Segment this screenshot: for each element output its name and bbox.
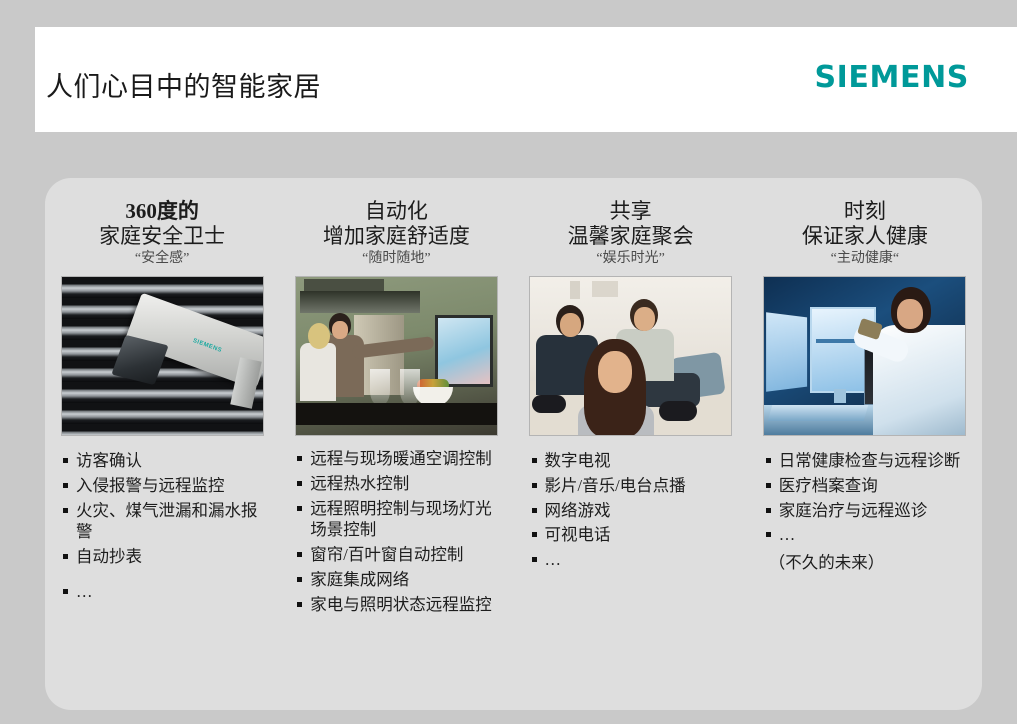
column-entertainment: 共享 温馨家庭聚会 “娱乐时光” (514, 178, 748, 710)
boy-face-shape (634, 307, 655, 331)
list-item: … (532, 549, 736, 571)
list-item: … (63, 581, 267, 603)
heading-quote: “主动健康“ (756, 251, 974, 268)
family-gaming-photo (529, 276, 732, 436)
list-item-label: … (76, 582, 93, 601)
list-item: … (766, 524, 970, 546)
keyboard-shape (768, 405, 869, 421)
telemedicine-photo (763, 276, 966, 436)
list-item-label: 远程与现场暖通空调控制 (310, 449, 492, 468)
list-item-label: 远程热水控制 (310, 474, 409, 493)
list-item: 医疗档案查询 (766, 475, 970, 497)
list-item: 远程与现场暖通空调控制 (297, 448, 501, 470)
list-item-label: … (779, 525, 796, 544)
heading-line-1: 自动化 (287, 199, 505, 224)
camera-lens-shape (111, 335, 168, 385)
game-controller-shape (659, 401, 697, 421)
list-item: 远程照明控制与现场灯光场景控制 (297, 498, 501, 542)
list-item-label: 家庭治疗与远程巡诊 (779, 501, 928, 520)
list-item-label: 远程照明控制与现场灯光场景控制 (310, 499, 492, 540)
slide-canvas: 人们心目中的智能家居 SIEMENS 360度的 家庭安全卫士 “安全感” SI… (0, 0, 1017, 724)
wall-decor-shape (592, 281, 618, 297)
bullet-square-icon (297, 456, 302, 461)
column-automation: 自动化 增加家庭舒适度 “随时随地” (279, 178, 513, 710)
bullet-square-icon (766, 532, 771, 537)
heading-line-2: 温馨家庭聚会 (522, 224, 740, 249)
list-item-label: 医疗档案查询 (779, 476, 878, 495)
woman-body-shape (300, 343, 336, 401)
doctor-face-shape (897, 299, 923, 329)
columns-container: 360度的 家庭安全卫士 “安全感” SIEMENS 访客确认 入侵报警与远程监… (45, 178, 982, 710)
list-item: 数字电视 (532, 450, 736, 472)
bullet-square-icon (297, 481, 302, 486)
heading-line-2: 家庭安全卫士 (53, 224, 271, 249)
list-item-label: 访客确认 (76, 451, 142, 470)
bullet-square-icon (63, 458, 68, 463)
content-panel: 360度的 家庭安全卫士 “安全感” SIEMENS 访客确认 入侵报警与远程监… (45, 178, 982, 710)
list-item: 可视电话 (532, 524, 736, 546)
bullet-square-icon (297, 602, 302, 607)
heading-line-2: 增加家庭舒适度 (287, 224, 505, 249)
list-item: 家庭治疗与远程巡诊 (766, 500, 970, 522)
list-item: 影片/音乐/电台点播 (532, 475, 736, 497)
list-item: 窗帘/百叶窗自动控制 (297, 544, 501, 566)
bullet-square-icon (63, 483, 68, 488)
monitor-shape (766, 312, 807, 391)
kitchen-counter-shape (296, 403, 497, 425)
list-item-label: 火灾、煤气泄漏和漏水报警 (76, 501, 258, 542)
bullet-square-icon (63, 508, 68, 513)
column-heading: 共享 温馨家庭聚会 “娱乐时光” (522, 199, 740, 267)
list-item: 网络游戏 (532, 500, 736, 522)
column-heading: 时刻 保证家人健康 “主动健康“ (756, 199, 974, 267)
bullet-square-icon (766, 458, 771, 463)
feature-list-health: 日常健康检查与远程诊断 医疗档案查询 家庭治疗与远程巡诊 … (756, 450, 974, 546)
bullet-square-icon (63, 554, 68, 559)
list-item: 火灾、煤气泄漏和漏水报警 (63, 500, 267, 544)
list-item: 入侵报警与远程监控 (63, 475, 267, 497)
siemens-logo: SIEMENS (814, 60, 969, 95)
list-item-label: 家电与照明状态远程监控 (310, 595, 492, 614)
heading-quote: “娱乐时光” (522, 251, 740, 268)
future-note: （不久的未来） (756, 549, 974, 573)
kitchen-couple-photo (295, 276, 498, 436)
security-camera-photo: SIEMENS (61, 276, 264, 436)
list-item-label: 影片/音乐/电台点播 (545, 476, 686, 495)
list-item: 自动抄表 (63, 546, 267, 568)
column-heading: 360度的 家庭安全卫士 “安全感” (53, 199, 271, 267)
heading-line-1: 360度的 (53, 199, 271, 224)
column-security: 360度的 家庭安全卫士 “安全感” SIEMENS 访客确认 入侵报警与远程监… (45, 178, 279, 710)
heading-quote: “安全感” (53, 251, 271, 268)
feature-list-security: 访客确认 入侵报警与远程监控 火灾、煤气泄漏和漏水报警 自动抄表 … (53, 450, 271, 603)
list-item-label: 可视电话 (545, 525, 611, 544)
bullet-square-icon (532, 508, 537, 513)
column-heading: 自动化 增加家庭舒适度 “随时随地” (287, 199, 505, 267)
list-item-label: 家庭集成网络 (310, 570, 409, 589)
list-item: 家庭集成网络 (297, 569, 501, 591)
feature-list-entertainment: 数字电视 影片/音乐/电台点播 网络游戏 可视电话 … (522, 450, 740, 571)
list-item: 访客确认 (63, 450, 267, 472)
list-item-label: 数字电视 (545, 451, 611, 470)
bullet-square-icon (297, 506, 302, 511)
list-item: 家电与照明状态远程监控 (297, 594, 501, 616)
game-controller-shape (532, 395, 566, 413)
page-title: 人们心目中的智能家居 (46, 65, 321, 104)
woman-head-shape (308, 323, 330, 349)
man-face-shape (332, 321, 348, 339)
heading-line-2: 保证家人健康 (756, 224, 974, 249)
heading-quote: “随时随地” (287, 251, 505, 268)
bullet-square-icon (297, 577, 302, 582)
list-item: 日常健康检查与远程诊断 (766, 450, 970, 472)
list-item-label: … (545, 550, 562, 569)
wine-glass-shape (400, 369, 420, 405)
kitchen-hood-shape (300, 291, 420, 313)
list-item-label: 窗帘/百叶窗自动控制 (310, 545, 463, 564)
boy-face-shape (560, 313, 581, 337)
list-item-label: 入侵报警与远程监控 (76, 476, 225, 495)
bullet-square-icon (532, 483, 537, 488)
heading-line-1: 时刻 (756, 199, 974, 224)
kitchen-wall-screen-shape (435, 315, 493, 387)
list-item-label: 自动抄表 (76, 547, 142, 566)
wall-decor-shape (570, 281, 580, 299)
bullet-square-icon (532, 532, 537, 537)
heading-line-1: 共享 (522, 199, 740, 224)
bullet-square-icon (766, 508, 771, 513)
bullet-square-icon (532, 458, 537, 463)
bullet-square-icon (63, 589, 68, 594)
list-item: 远程热水控制 (297, 473, 501, 495)
wine-glass-shape (370, 369, 390, 405)
monitor-stand-shape (834, 389, 846, 403)
girl-face-shape (598, 351, 632, 393)
list-item-label: 网络游戏 (545, 501, 611, 520)
feature-list-automation: 远程与现场暖通空调控制 远程热水控制 远程照明控制与现场灯光场景控制 窗帘/百叶… (287, 448, 505, 615)
slide-header: 人们心目中的智能家居 SIEMENS (35, 27, 1017, 132)
column-health: 时刻 保证家人健康 “主动健康“ (748, 178, 982, 710)
list-item-label: 日常健康检查与远程诊断 (779, 451, 961, 470)
bullet-square-icon (297, 552, 302, 557)
bullet-square-icon (532, 557, 537, 562)
bullet-square-icon (766, 483, 771, 488)
